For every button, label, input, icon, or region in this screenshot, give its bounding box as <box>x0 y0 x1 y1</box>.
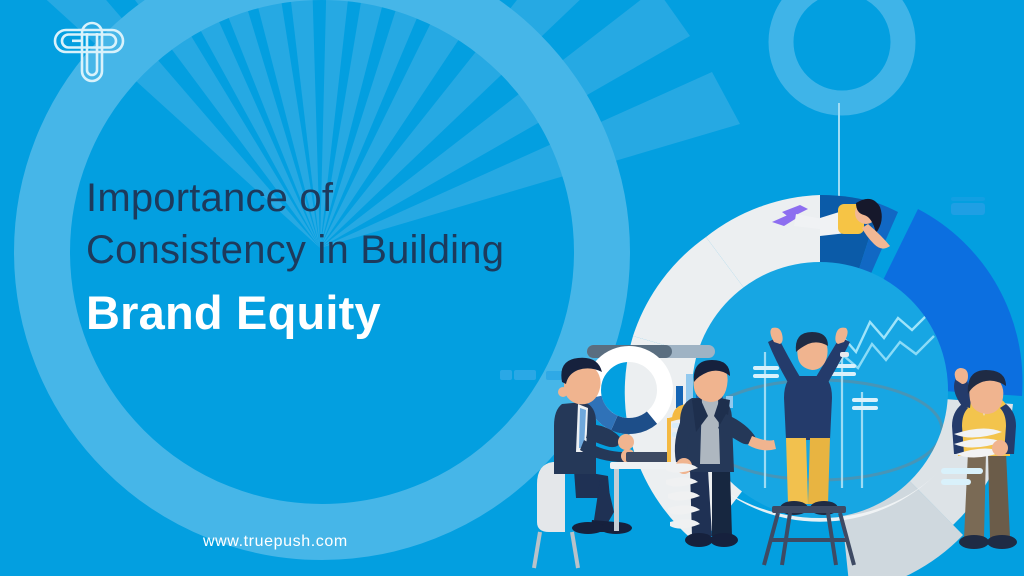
page-title: Importance of Consistency in Building Br… <box>86 172 646 343</box>
headline-line-2: Consistency in Building <box>86 224 646 276</box>
truepush-logo[interactable] <box>44 19 134 89</box>
website-url[interactable]: www.truepush.com <box>203 533 348 551</box>
ui-bars-far-left <box>500 370 536 380</box>
ui-badge-top-right <box>951 197 985 215</box>
truepush-blog-banner: Importance of Consistency in Building Br… <box>0 0 1024 576</box>
headline-line-3: Brand Equity <box>86 282 646 343</box>
headline-line-1: Importance of <box>86 172 646 224</box>
